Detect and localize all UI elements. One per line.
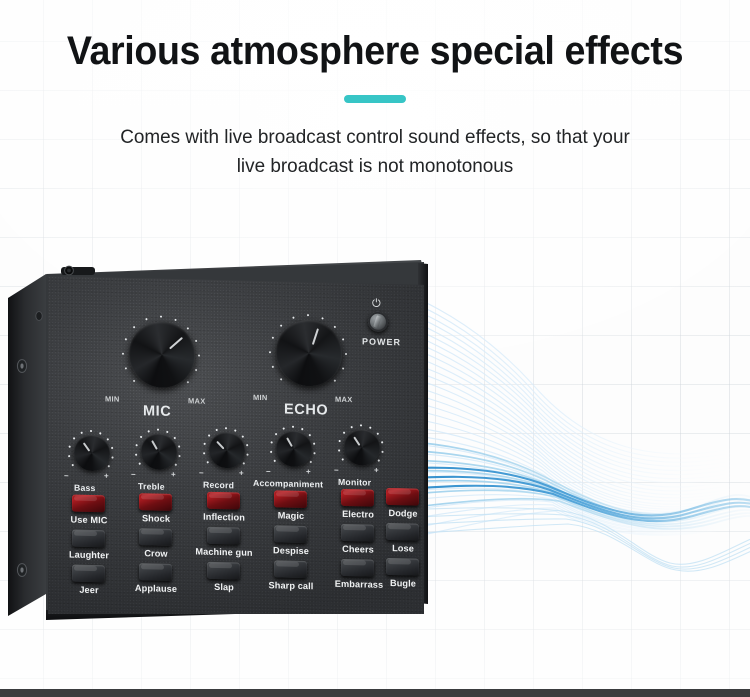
knob-tick [272,366,275,369]
knob-record-dial[interactable] [209,432,245,469]
knob-tick [99,432,101,434]
knob-tick [73,437,75,439]
button-gloss [141,494,164,500]
knob-record[interactable] [203,429,247,474]
accent-divider [344,95,406,103]
button-use-mic[interactable] [72,495,105,513]
button-jeer[interactable] [72,565,105,583]
panel-controls: MIN MAX MIC MIN MAX ECHO ⏻ POWER [48,276,424,614]
knob-tick [125,367,128,370]
knob-tick [174,319,177,322]
knob-tick [301,428,303,430]
button-gloss [209,493,232,499]
knob-tick [157,429,159,431]
knob-tick [342,367,345,370]
button-gloss [74,531,97,537]
knob-tick [225,427,227,429]
button-magic[interactable] [274,490,307,508]
knob-monitor-plus: + [374,466,379,475]
knob-echo-max-label: MAX [335,395,353,404]
knob-tick [135,444,137,446]
live-sound-card-device[interactable]: MIN MAX MIC MIN MAX ECHO ⏻ POWER [6,258,431,620]
knob-tick [175,464,177,466]
knob-tick [90,430,92,432]
knob-mic-max-label: MAX [188,396,206,405]
knob-tick [292,426,294,428]
knob-treble-minus: − [131,470,136,479]
knob-tick [272,336,275,339]
button-use-mic-label: Use MIC [66,514,112,525]
button-gloss [343,525,366,531]
knob-tick [333,325,336,328]
button-gloss [74,566,97,572]
power-button[interactable] [368,312,388,332]
knob-bass-plus: + [104,471,109,480]
knob-tick [246,444,248,446]
knob-tick [135,454,137,456]
knob-tick [174,437,176,439]
knob-record-minus: − [199,469,204,478]
knob-tick [195,369,198,372]
button-crow[interactable] [139,528,172,546]
button-shock-label: Shock [133,513,179,524]
knob-tick [186,327,189,330]
knob-tick [280,324,283,327]
knob-mic-min-label: MIN [105,394,120,403]
knob-tick [186,381,189,384]
knob-tick [310,461,312,463]
knob-mic-label: MIC [143,403,171,420]
button-laughter-label: Laughter [64,549,114,560]
knob-tick [270,441,272,443]
knob-echo-min-label: MIN [253,393,268,402]
knob-tick [307,314,309,316]
knob-tick [360,424,362,426]
button-shock[interactable] [139,493,172,511]
knob-tick [147,430,149,432]
button-despise[interactable] [274,525,307,543]
knob-tick [80,432,82,434]
knob-bass-minus: − [64,471,69,480]
button-inflection[interactable] [207,492,240,510]
knob-tick [112,456,114,458]
button-laughter[interactable] [72,530,105,548]
knob-monitor-pointer [353,436,360,446]
knob-monitor-minus: − [334,466,339,475]
knob-tick [309,434,311,436]
knob-bass[interactable] [68,431,112,476]
button-machine-gun-label: Machine gun [191,546,257,558]
button-sharp-call[interactable] [274,560,307,578]
knob-tick [270,451,272,453]
button-gloss [343,560,366,566]
button-cheers[interactable] [341,524,374,542]
knob-tick [107,438,109,440]
knob-treble-label: Treble [138,481,165,492]
knob-tick [215,429,217,431]
button-gloss [209,528,232,534]
button-sharp-call-label: Sharp call [262,580,320,591]
knob-tick [203,443,205,445]
button-despise-label: Despise [266,545,316,556]
button-gloss [141,564,164,570]
knob-accompaniment[interactable] [270,427,314,472]
button-gloss [141,529,164,535]
knob-bass-pointer [83,442,90,451]
knob-accompaniment-dial[interactable] [276,430,312,467]
knob-tick [333,379,336,382]
button-slap-label: Slap [203,582,245,593]
knob-monitor-label: Monitor [338,477,371,488]
knob-tick [338,440,340,442]
knob-tick [234,429,236,431]
knob-echo[interactable] [270,315,344,391]
knob-tick [274,460,276,462]
knob-tick [369,426,371,428]
knob-echo-dial[interactable] [276,319,342,387]
knob-tick [133,326,136,329]
knob-mic[interactable] [123,317,197,393]
button-gloss [209,563,232,569]
knob-tick [321,317,324,320]
knob-tick [125,338,128,341]
bottom-edge-strip [0,689,750,697]
knob-tick [68,446,70,448]
button-machine-gun[interactable] [207,527,240,545]
knob-tick [342,458,344,460]
knob-tick [350,426,352,428]
knob-tick [108,465,110,467]
knob-tick [139,463,141,465]
knob-tick [342,338,345,341]
knob-tick [247,454,249,456]
knob-tick [133,379,136,382]
button-electro-label: Electro [335,509,381,520]
button-cheers-label: Cheers [335,544,381,555]
knob-tick [338,450,340,452]
button-dodge-label: Dodge [380,508,424,519]
knob-treble-pointer [151,440,158,450]
button-crow-label: Crow [133,548,179,559]
button-gloss [388,489,411,495]
button-inflection-label: Inflection [195,511,253,522]
knob-tick [313,443,315,445]
button-gloss [388,524,411,530]
knob-tick [269,351,271,353]
knob-tick [243,462,245,464]
knob-tick [314,452,316,454]
knob-treble-dial[interactable] [141,433,177,470]
knob-tick [343,432,345,434]
knob-tick [160,316,162,318]
power-label: POWER [362,336,401,347]
knob-tick [345,353,347,355]
button-electro[interactable] [341,489,374,507]
knob-tick [242,435,244,437]
device-front-panel: MIN MAX MIC MIN MAX ECHO ⏻ POWER [48,276,424,614]
button-lose[interactable] [386,523,419,541]
knob-tick [292,316,295,319]
knob-tick [280,378,283,381]
button-lose-label: Lose [382,543,424,554]
knob-tick [179,455,181,457]
knob-bass-label: Bass [74,483,96,494]
knob-mic-dial[interactable] [129,321,195,389]
knob-tick [68,455,70,457]
subtitle-line-2: live broadcast is not monotonous [65,152,686,181]
button-gloss [74,496,97,502]
page-subtitle: Comes with live broadcast control sound … [65,123,686,181]
knob-tick [207,461,209,463]
knob-tick [178,445,180,447]
knob-tick [203,453,205,455]
knob-accompaniment-plus: + [306,467,311,476]
knob-accompaniment-label: Accompaniment [253,478,323,490]
knob-tick [208,434,210,436]
button-gloss [276,526,299,532]
knob-tick [198,355,200,357]
knob-accompaniment-minus: − [266,467,271,476]
button-bugle-label: Bugle [380,578,424,589]
button-applause[interactable] [139,563,172,581]
button-embarrass[interactable] [341,559,374,577]
knob-record-plus: + [239,469,244,478]
knob-tick [378,459,380,461]
button-jeer-label: Jeer [68,584,110,595]
knob-treble[interactable] [135,430,179,475]
knob-tick [111,447,113,449]
button-gloss [388,559,411,565]
knob-tick [282,427,284,429]
knob-tick [122,353,124,355]
knob-tick [195,340,198,343]
button-gloss [276,491,299,497]
knob-tick [381,441,383,443]
button-gloss [343,490,366,496]
knob-tick [275,433,277,435]
power-icon: ⏻ [372,299,381,310]
knob-record-label: Record [203,480,234,491]
knob-tick [72,464,74,466]
power-control[interactable]: ⏻ POWER [368,312,388,332]
knob-tick [382,451,384,453]
knob-treble-plus: + [171,470,176,479]
knob-record-pointer [216,441,224,450]
header: Various atmosphere special effects Comes… [0,0,750,181]
subtitle-line-1: Comes with live broadcast control sound … [65,123,686,152]
knob-monitor-dial[interactable] [344,429,380,466]
knob-accompaniment-pointer [286,437,293,447]
knob-monitor[interactable] [338,426,382,471]
knob-tick [140,436,142,438]
button-applause-label: Applause [130,583,182,594]
page-stage: Various atmosphere special effects Comes… [0,0,750,697]
button-magic-label: Magic [268,510,314,521]
knob-tick [166,431,168,433]
knob-echo-label: ECHO [284,402,328,419]
knob-mic-pointer [169,337,183,350]
button-slap[interactable] [207,562,240,580]
button-dodge[interactable] [386,488,419,506]
knob-echo-pointer [312,328,320,345]
knob-bass-dial[interactable] [74,435,110,472]
page-title: Various atmosphere special effects [23,0,728,73]
knob-tick [377,432,379,434]
button-bugle[interactable] [386,558,419,576]
button-gloss [276,561,299,567]
knob-tick [145,318,148,321]
